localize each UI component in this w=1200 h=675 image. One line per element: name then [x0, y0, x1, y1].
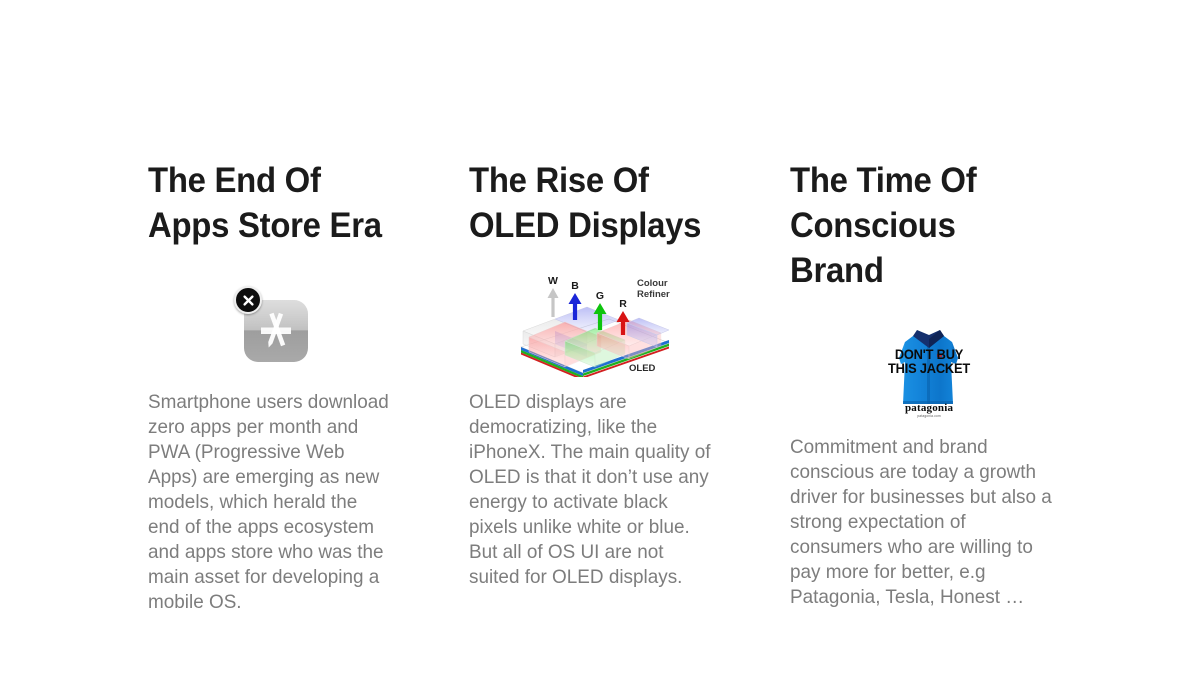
delete-badge-x-icon[interactable] [234, 286, 262, 314]
patagonia-logo: patagonia patagonia.com [883, 403, 975, 419]
oled-label-w: W [548, 275, 558, 287]
oled-label-r: R [619, 298, 627, 310]
arrow-white [548, 288, 559, 317]
column-conscious-brand: The Time Of Conscious Brand [790, 158, 1068, 610]
column-3-body: Commitment and brand conscious are today… [790, 435, 1060, 610]
close-icon [242, 294, 255, 307]
column-2-heading: The Rise Of OLED Displays [469, 158, 704, 248]
patagonia-dont-buy-this-jacket-ad: DON'T BUY THIS JACKET patagonia patagoni… [883, 318, 975, 422]
column-1-heading: The End Of Apps Store Era [148, 158, 383, 248]
oled-pixel-blocks [523, 307, 669, 367]
patagonia-wordmark: patagonia [883, 403, 975, 414]
oled-label-colour-refiner-line1: Colour [637, 278, 668, 289]
app-store-icon-with-delete-badge [234, 286, 312, 364]
oled-label-oled: OLED [629, 363, 656, 374]
column-2-media: W B G R Colour Refiner OLED [469, 266, 719, 384]
column-oled-displays: The Rise Of OLED Displays [469, 158, 719, 590]
patagonia-headline: DON'T BUY THIS JACKET [885, 348, 972, 376]
patagonia-url: patagonia.com [883, 414, 975, 419]
column-apps-store: The End Of Apps Store Era [148, 158, 398, 615]
slide-canvas: The End Of Apps Store Era [0, 0, 1200, 675]
oled-display-diagram: W B G R Colour Refiner OLED [509, 273, 679, 377]
three-column-layout: The End Of Apps Store Era [148, 158, 1068, 615]
column-1-media [148, 266, 398, 384]
column-1-body: Smartphone users download zero apps per … [148, 390, 391, 615]
oled-label-b: B [571, 280, 579, 292]
oled-label-colour-refiner-line2: Refiner [637, 289, 670, 300]
column-2-body: OLED displays are democratizing, like th… [469, 390, 712, 590]
oled-diagram-svg: W B G R Colour Refiner OLED [509, 273, 679, 377]
column-3-media: DON'T BUY THIS JACKET patagonia patagoni… [790, 311, 1068, 429]
oled-label-g: G [596, 290, 604, 302]
column-3-heading: The Time Of Conscious Brand [790, 158, 1051, 293]
